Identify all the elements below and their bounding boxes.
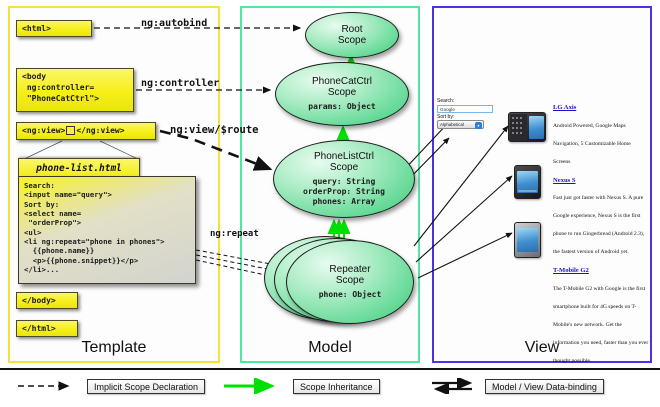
legend-art-dashed-arrow <box>16 378 80 394</box>
scope-phonelistctrl-line1: PhoneListCtrl <box>314 151 374 162</box>
phone-thumbnail-lg-axis <box>508 112 546 142</box>
scope-repeater-stack: Repeater Scope phone: Object <box>264 236 416 324</box>
scope-phonecatctrl-line1: PhoneCatCtrl <box>312 76 372 87</box>
legend-label-data-binding: Model / View Data-binding <box>485 379 604 394</box>
phone-link-1[interactable]: Nexus S <box>553 177 649 184</box>
diagram-stage: Template Model View <box>0 0 660 405</box>
legend-item-data-binding: Model / View Data-binding <box>430 378 604 394</box>
ngview-placeholder-icon <box>66 126 75 135</box>
tag-ngview: <ng:view></ng:view> <box>16 122 156 140</box>
sort-select[interactable]: Alphabetical ▾ <box>437 120 484 129</box>
tag-body-open: <body ng:controller= "PhoneCatCtrl"> <box>16 68 134 112</box>
phone-list: LG Axis Android Powered, Google Maps Nav… <box>553 104 649 376</box>
phone-link-0[interactable]: LG Axis <box>553 104 649 111</box>
legend-item-implicit-scope: Implicit Scope Declaration <box>16 378 205 394</box>
legend-item-scope-inheritance: Scope Inheritance <box>222 378 380 394</box>
scope-root: Root Scope <box>305 12 399 58</box>
view-search-form: Search: Google Sort by: Alphabetical ▾ <box>437 99 499 139</box>
connector-label-route: ng:view/$route <box>170 124 259 136</box>
scope-root-line1: Root <box>341 24 362 35</box>
legend-art-double-arrow <box>430 378 478 394</box>
legend: Implicit Scope Declaration Scope Inherit… <box>0 368 660 407</box>
sort-select-value: Alphabetical <box>440 122 464 127</box>
scope-root-line2: Scope <box>338 35 366 46</box>
scope-repeater: Repeater Scope phone: Object <box>286 240 414 324</box>
scope-phonelistctrl-line2: Scope <box>330 162 358 173</box>
scope-phonelistctrl-props: query: String orderProp: String phones: … <box>303 177 385 207</box>
connector-label-autobind: ng:autobind <box>141 18 207 29</box>
search-input[interactable]: Google <box>437 105 493 113</box>
scope-repeater-props: phone: Object <box>319 290 382 300</box>
template-note-filename: phone-list.html <box>18 158 140 178</box>
template-note: phone-list.html Search: <input name="que… <box>18 158 196 286</box>
tag-html-close: </html> <box>16 320 78 337</box>
scope-phonecatctrl-line2: Scope <box>328 87 356 98</box>
phone-thumbnail-t-mobile-g2 <box>514 222 541 258</box>
template-note-code: Search: <input name="query"> Sort by: <s… <box>18 176 196 284</box>
tag-body-close: </body> <box>16 292 78 309</box>
list-item[interactable]: Nexus S Fast just got faster with Nexus … <box>553 177 649 259</box>
scope-repeater-line2: Scope <box>336 275 364 286</box>
scope-phonelistctrl: PhoneListCtrl Scope query: String orderP… <box>273 140 415 218</box>
chevron-down-icon: ▾ <box>475 122 482 129</box>
phone-link-2[interactable]: T-Mobile G2 <box>553 267 649 274</box>
connector-label-repeat: ng:repeat <box>210 229 259 239</box>
list-item[interactable]: LG Axis Android Powered, Google Maps Nav… <box>553 104 649 168</box>
legend-label-scope-inheritance: Scope Inheritance <box>293 379 380 394</box>
legend-label-implicit-scope: Implicit Scope Declaration <box>87 379 205 394</box>
tag-html-open: <html> <box>16 20 92 37</box>
tag-ngview-open: <ng:view> <box>22 126 65 135</box>
phone-snippet-1: Fast just got faster with Nexus S. A pur… <box>553 195 644 255</box>
scope-phonecatctrl: PhoneCatCtrl Scope params: Object <box>275 62 409 126</box>
scope-phonecatctrl-props: params: Object <box>308 102 375 112</box>
phone-snippet-2: The T-Mobile G2 with Google is the first… <box>553 286 648 364</box>
legend-art-green-arrow <box>222 378 286 394</box>
scope-repeater-line1: Repeater <box>329 264 370 275</box>
tag-ngview-close: </ng:view> <box>76 126 124 135</box>
connector-label-controller: ng:controller <box>141 78 219 89</box>
phone-snippet-0: Android Powered, Google Maps Navigation,… <box>553 123 631 165</box>
list-item[interactable]: T-Mobile G2 The T-Mobile G2 with Google … <box>553 267 649 367</box>
phone-thumbnail-nexus-s <box>514 165 541 199</box>
